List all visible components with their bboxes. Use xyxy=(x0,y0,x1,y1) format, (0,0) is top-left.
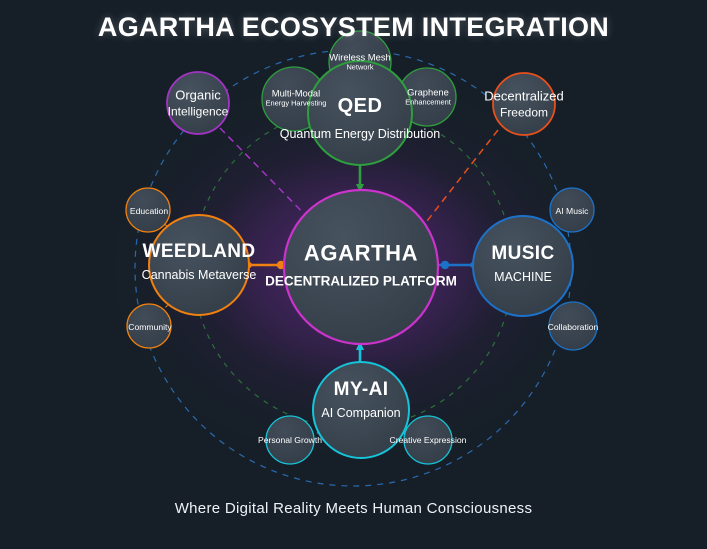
corner-node-freedom[interactable] xyxy=(493,73,555,135)
satellite-personal-growth[interactable] xyxy=(266,416,314,464)
hub-node-myai[interactable] xyxy=(313,362,409,458)
satellite-education[interactable] xyxy=(126,188,170,232)
diagram-canvas: AGARTHA ECOSYSTEM INTEGRATION Where Digi… xyxy=(0,0,707,549)
corner-node-organic[interactable] xyxy=(167,72,229,134)
connector-freedom-to-center xyxy=(420,130,498,230)
hub-node-weedland[interactable] xyxy=(149,215,249,315)
hub-node-qed[interactable] xyxy=(308,61,412,165)
satellite-community[interactable] xyxy=(127,304,171,348)
satellite-collaboration[interactable] xyxy=(549,302,597,350)
center-node-agartha[interactable] xyxy=(284,190,438,344)
hub-node-music[interactable] xyxy=(473,216,573,316)
connector-organic-to-center xyxy=(220,128,318,228)
footer-tagline: Where Digital Reality Meets Human Consci… xyxy=(0,500,707,517)
diagram-graphics xyxy=(0,0,707,549)
satellite-creative-expression[interactable] xyxy=(404,416,452,464)
arrowhead-music xyxy=(441,261,449,269)
page-title: AGARTHA ECOSYSTEM INTEGRATION xyxy=(0,12,707,43)
satellite-ai-music[interactable] xyxy=(550,188,594,232)
